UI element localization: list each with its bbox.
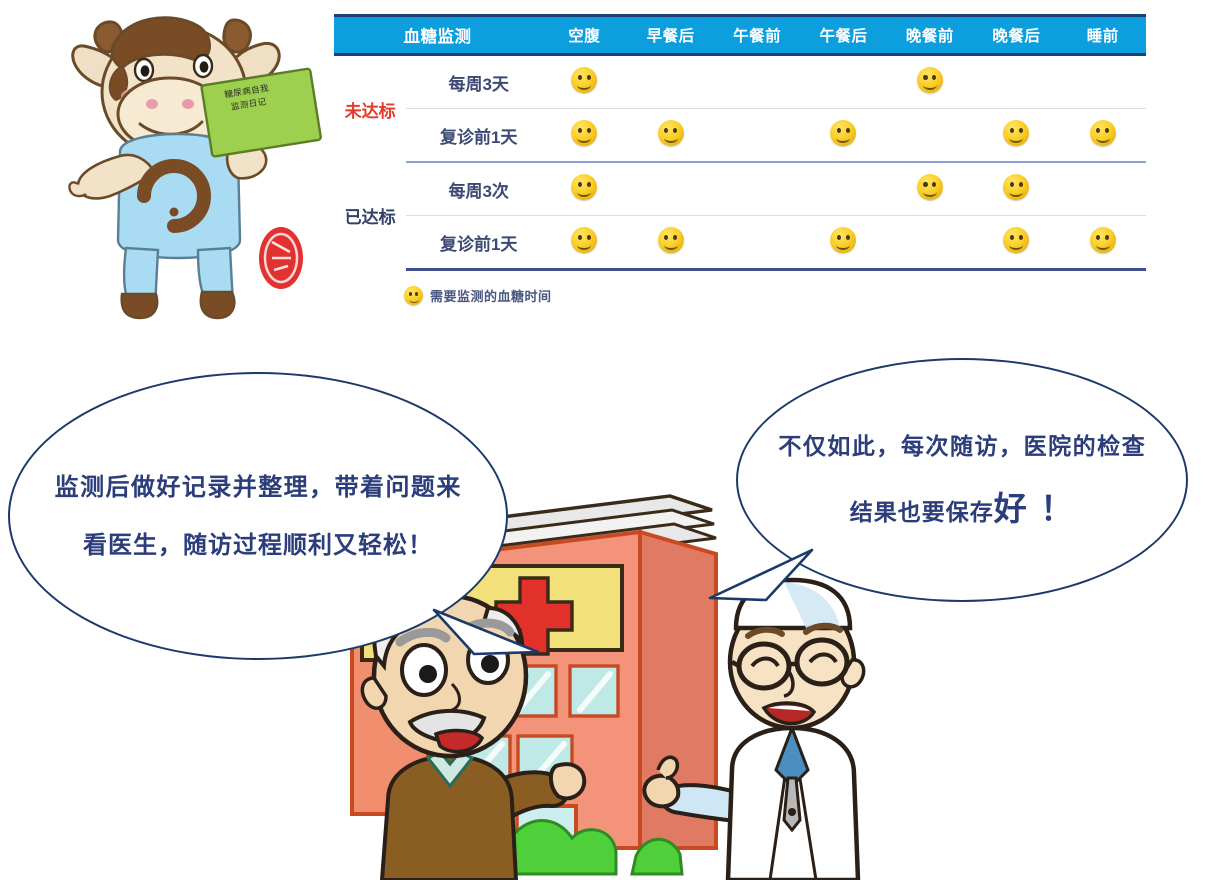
smiley-face-icon — [658, 120, 684, 146]
speech-bubble-right-main: 不仅如此，每次随访，医院的检查结果也要保存 — [778, 434, 1145, 526]
smiley-face-icon — [1090, 227, 1116, 253]
group-label-0: 未达标 — [334, 55, 406, 163]
smiley-face-icon — [1003, 120, 1029, 146]
group-label-1: 已达标 — [334, 162, 406, 270]
mark-cell-0-0-2 — [714, 55, 800, 109]
table-header-row: 血糖监测 空腹 早餐后 午餐前 午餐后 晚餐前 晚餐后 睡前 — [334, 16, 1146, 55]
mark-cell-0-0-3 — [800, 55, 886, 109]
mark-cell-1-1-1 — [627, 216, 713, 270]
mark-cell-0-1-3 — [800, 109, 886, 163]
mark-cell-1-1-3 — [800, 216, 886, 270]
spacer-cell — [406, 55, 416, 109]
table-legend: 需要监测的血糖时间 — [404, 286, 552, 305]
smiley-face-icon — [658, 227, 684, 253]
column-header-0: 空腹 — [541, 16, 627, 55]
speech-bubble-right-text: 不仅如此，每次随访，医院的检查结果也要保存好 ！ — [778, 416, 1145, 544]
mark-cell-1-1-5 — [973, 216, 1059, 270]
table-row: 复诊前1天 — [334, 109, 1146, 163]
row-label-0-0: 每周3天 — [416, 55, 541, 109]
column-header-4: 晚餐前 — [887, 16, 973, 55]
row-label-1-1: 复诊前1天 — [416, 216, 541, 270]
speech-bubble-left-text: 监测后做好记录并整理，带着问题来看医生，随访过程顺利又轻松！ — [55, 458, 462, 574]
mark-cell-1-0-5 — [973, 162, 1059, 216]
mark-cell-0-1-6 — [1060, 109, 1146, 163]
blood-glucose-monitoring-table: 血糖监测 空腹 早餐后 午餐前 午餐后 晚餐前 晚餐后 睡前 未达标 每周3天 — [334, 14, 1146, 271]
column-header-2: 午餐前 — [714, 16, 800, 55]
mark-cell-1-1-6 — [1060, 216, 1146, 270]
column-header-3: 午餐后 — [800, 16, 886, 55]
table-row: 已达标 每周3次 — [334, 162, 1146, 216]
mark-cell-0-1-2 — [714, 109, 800, 163]
mark-cell-0-0-0 — [541, 55, 627, 109]
smiley-face-icon — [830, 120, 856, 146]
spacer-cell — [406, 109, 416, 163]
cow-mascot: 糖尿病自我 监测日记 — [62, 0, 332, 330]
mark-cell-0-1-0 — [541, 109, 627, 163]
column-header-6: 睡前 — [1060, 16, 1146, 55]
table-row: 未达标 每周3天 — [334, 55, 1146, 109]
smiley-face-icon — [404, 286, 423, 305]
mark-cell-0-0-1 — [627, 55, 713, 109]
mark-cell-1-1-0 — [541, 216, 627, 270]
mark-cell-1-0-1 — [627, 162, 713, 216]
table-row: 复诊前1天 — [334, 216, 1146, 270]
mark-cell-1-1-2 — [714, 216, 800, 270]
row-label-1-0: 每周3次 — [416, 162, 541, 216]
spacer-cell — [406, 216, 416, 270]
mark-cell-0-1-5 — [973, 109, 1059, 163]
table-body: 未达标 每周3天 复诊前1天 — [334, 55, 1146, 270]
mark-cell-0-0-6 — [1060, 55, 1146, 109]
smiley-face-icon — [1003, 174, 1029, 200]
mark-cell-1-0-3 — [800, 162, 886, 216]
mark-cell-0-1-4 — [887, 109, 973, 163]
smiley-face-icon — [917, 174, 943, 200]
column-header-5: 晚餐后 — [973, 16, 1059, 55]
red-seal-stamp — [259, 227, 303, 289]
smiley-face-icon — [917, 67, 943, 93]
column-header-1: 早餐后 — [627, 16, 713, 55]
smiley-face-icon — [1003, 227, 1029, 253]
mark-cell-0-1-1 — [627, 109, 713, 163]
legend-label: 需要监测的血糖时间 — [430, 286, 552, 305]
speech-bubble-tail-right — [700, 540, 820, 620]
smiley-face-icon — [571, 67, 597, 93]
spacer-cell — [406, 162, 416, 216]
mark-cell-1-1-4 — [887, 216, 973, 270]
smiley-face-icon — [1090, 120, 1116, 146]
cow-mascot-illustration — [62, 0, 332, 330]
speech-bubble-right-emphasis: 好 ！ — [994, 489, 1075, 528]
mark-cell-1-0-0 — [541, 162, 627, 216]
mark-cell-1-0-4 — [887, 162, 973, 216]
speech-bubble-tail-left — [430, 590, 550, 670]
smiley-face-icon — [571, 227, 597, 253]
mark-cell-1-0-2 — [714, 162, 800, 216]
smiley-face-icon — [571, 174, 597, 200]
table-title: 血糖监测 — [334, 16, 541, 55]
mark-cell-0-0-4 — [887, 55, 973, 109]
mark-cell-1-0-6 — [1060, 162, 1146, 216]
row-label-0-1: 复诊前1天 — [416, 109, 541, 163]
smiley-face-icon — [571, 120, 597, 146]
mark-cell-0-0-5 — [973, 55, 1059, 109]
smiley-face-icon — [830, 227, 856, 253]
